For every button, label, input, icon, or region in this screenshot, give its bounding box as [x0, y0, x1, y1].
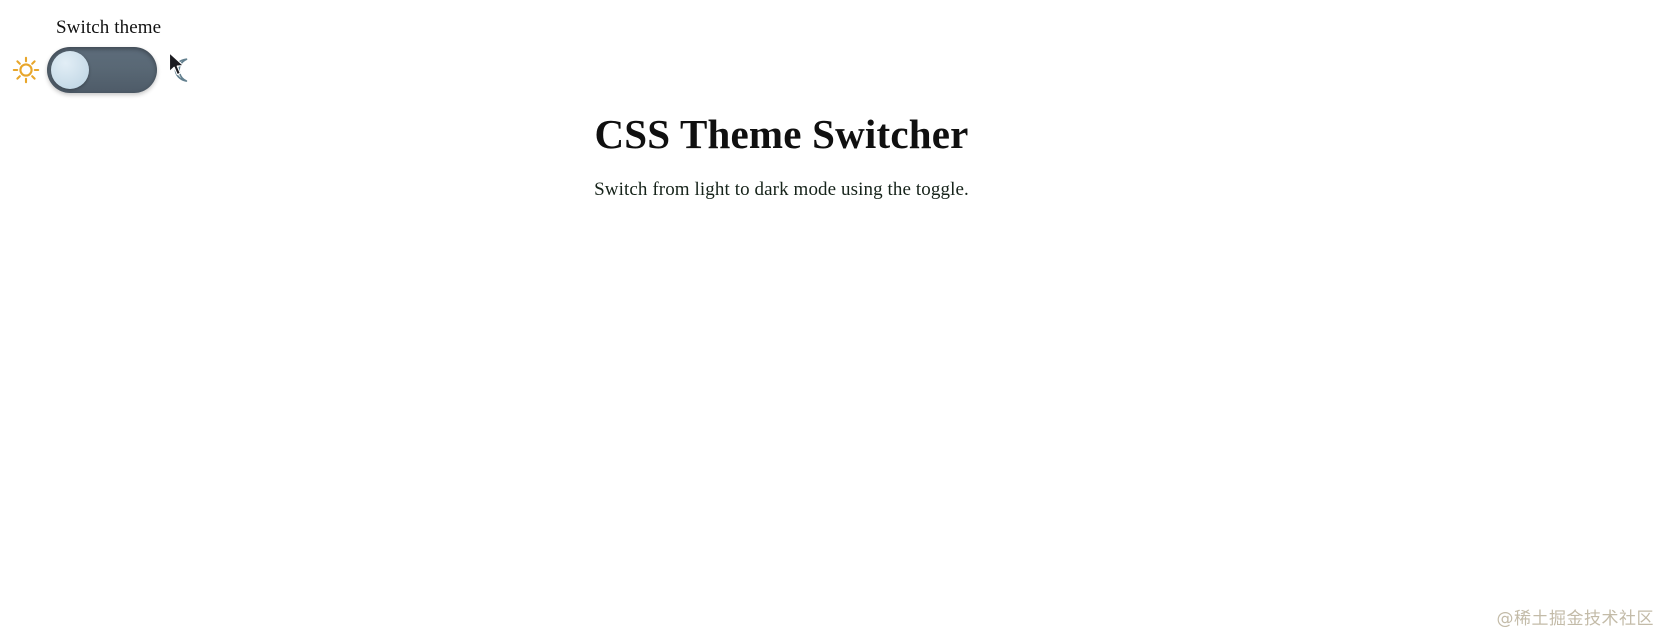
theme-switch-row: [0, 46, 195, 94]
hero-section: CSS Theme Switcher Switch from light to …: [0, 108, 1563, 202]
page-subtitle: Switch from light to dark mode using the…: [0, 178, 1563, 202]
sun-icon: [11, 46, 41, 94]
theme-switcher: Switch theme: [0, 0, 230, 105]
watermark: @稀土掘金技术社区: [1497, 608, 1655, 630]
switch-theme-label: Switch theme: [56, 16, 161, 40]
theme-toggle-knob[interactable]: [51, 51, 89, 89]
theme-toggle-switch[interactable]: [47, 47, 157, 93]
app-root: Switch theme: [0, 0, 1668, 638]
moon-icon: [169, 46, 195, 94]
page-title: CSS Theme Switcher: [0, 108, 1563, 160]
